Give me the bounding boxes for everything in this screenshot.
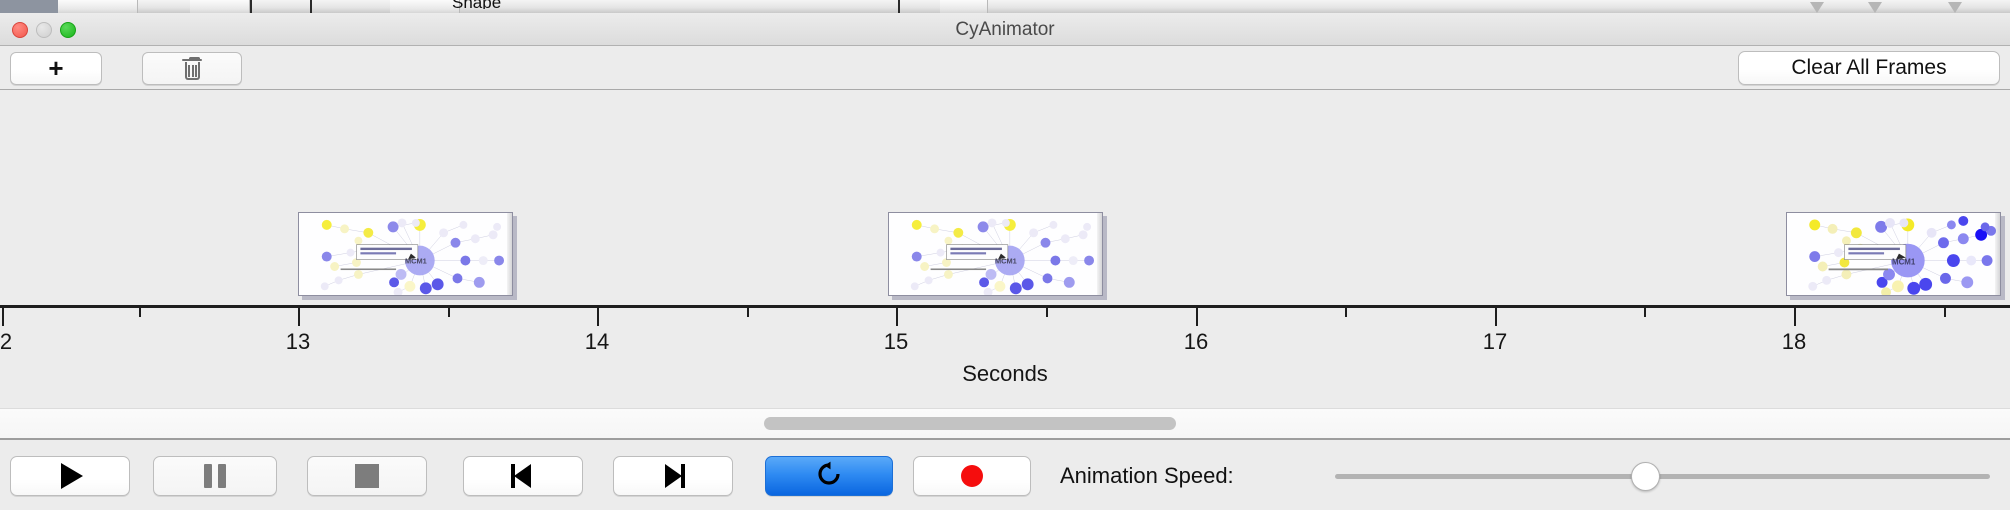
- pause-button[interactable]: [153, 456, 277, 496]
- ruler-minor-tick: [448, 308, 450, 317]
- timeline-frame-thumbnail[interactable]: MCM1: [1786, 212, 2001, 296]
- play-button[interactable]: [10, 456, 130, 496]
- ruler-major-tick: [2, 308, 4, 326]
- ruler-tick-label: 17: [1483, 329, 1507, 355]
- loop-refresh-icon: [814, 459, 844, 494]
- ruler-major-tick: [896, 308, 898, 326]
- ruler-axis-title: Seconds: [0, 361, 2010, 387]
- network-graph-thumbnail: MCM1: [1787, 213, 2000, 295]
- background-window-label: Shape: [452, 0, 501, 9]
- skip-next-icon: [660, 463, 686, 489]
- background-window-arrow-icon: [1948, 2, 1962, 13]
- background-window-arrow-icon: [1810, 2, 1824, 13]
- ruler-minor-tick: [1345, 308, 1347, 317]
- network-graph-thumbnail: MCM1: [889, 213, 1102, 295]
- horizontal-scrollbar[interactable]: [0, 408, 2010, 440]
- background-window-chunk: [58, 0, 138, 13]
- ruler-axis-line: [0, 305, 2010, 308]
- ruler-major-tick: [597, 308, 599, 326]
- svg-text:MCM1: MCM1: [995, 257, 1017, 266]
- ruler-minor-tick: [1944, 308, 1946, 317]
- cyanimator-window: Shape CyAnimator +: [0, 0, 2010, 510]
- background-window-tick: [250, 0, 252, 13]
- record-button[interactable]: [913, 456, 1031, 496]
- ruler-major-tick: [298, 308, 300, 326]
- ruler-tick-label: 15: [884, 329, 908, 355]
- stop-icon: [355, 464, 379, 488]
- animation-speed-slider[interactable]: [1335, 474, 1990, 479]
- ruler-major-tick: [1794, 308, 1796, 326]
- slider-thumb[interactable]: [1631, 462, 1660, 491]
- background-window-strip: Shape: [0, 0, 2010, 13]
- background-window-arrow-icon: [1868, 2, 1882, 13]
- skip-previous-icon: [510, 463, 536, 489]
- delete-frame-button[interactable]: [142, 52, 242, 85]
- title-bar[interactable]: CyAnimator: [0, 13, 2010, 46]
- ruler-major-tick: [1495, 308, 1497, 326]
- next-frame-button[interactable]: [613, 456, 733, 496]
- frames-toolbar: + Clear All Frames: [0, 46, 2010, 90]
- ruler-tick-label: 18: [1782, 329, 1806, 355]
- svg-text:MCM1: MCM1: [1892, 258, 1916, 267]
- ruler-minor-tick: [1046, 308, 1048, 317]
- timeline-ruler[interactable]: 2 13 14 15 16 17 18 Seconds: [0, 305, 2010, 408]
- scrollbar-thumb[interactable]: [764, 417, 1176, 430]
- ruler-major-tick: [1196, 308, 1198, 326]
- window-title: CyAnimator: [0, 13, 2010, 46]
- timeline-panel[interactable]: MCM1: [0, 90, 2010, 408]
- record-circle-icon: [961, 465, 983, 487]
- animation-speed-label: Animation Speed:: [1060, 456, 1234, 496]
- ruler-tick-label: 16: [1184, 329, 1208, 355]
- background-window-chunk: [390, 0, 460, 13]
- loop-button[interactable]: [765, 456, 893, 496]
- ruler-tick-label: 14: [585, 329, 609, 355]
- clear-all-frames-button[interactable]: Clear All Frames: [1738, 51, 2000, 85]
- background-window-tick: [310, 0, 312, 13]
- trash-icon: [182, 57, 202, 81]
- network-graph-thumbnail: MCM1: [299, 213, 512, 295]
- play-icon: [61, 463, 83, 489]
- background-window-tick: [898, 0, 900, 13]
- ruler-minor-tick: [747, 308, 749, 317]
- background-window-chunk: [940, 0, 988, 13]
- ruler-minor-tick: [1644, 308, 1646, 317]
- add-frame-button[interactable]: +: [10, 52, 102, 85]
- timeline-frame-thumbnail[interactable]: MCM1: [298, 212, 513, 296]
- ruler-tick-label: 13: [286, 329, 310, 355]
- background-window-dark-block: [0, 0, 58, 13]
- svg-text:MCM1: MCM1: [405, 257, 427, 266]
- ruler-minor-tick: [139, 308, 141, 317]
- clear-all-frames-label: Clear All Frames: [1791, 56, 1946, 80]
- playback-controls-bar: Animation Speed:: [0, 442, 2010, 510]
- previous-frame-button[interactable]: [463, 456, 583, 496]
- pause-icon: [204, 464, 226, 488]
- ruler-tick-label: 2: [0, 329, 12, 355]
- background-window-chunk: [190, 0, 250, 13]
- stop-button[interactable]: [307, 456, 427, 496]
- plus-icon: +: [48, 58, 63, 79]
- timeline-frame-thumbnail[interactable]: MCM1: [888, 212, 1103, 296]
